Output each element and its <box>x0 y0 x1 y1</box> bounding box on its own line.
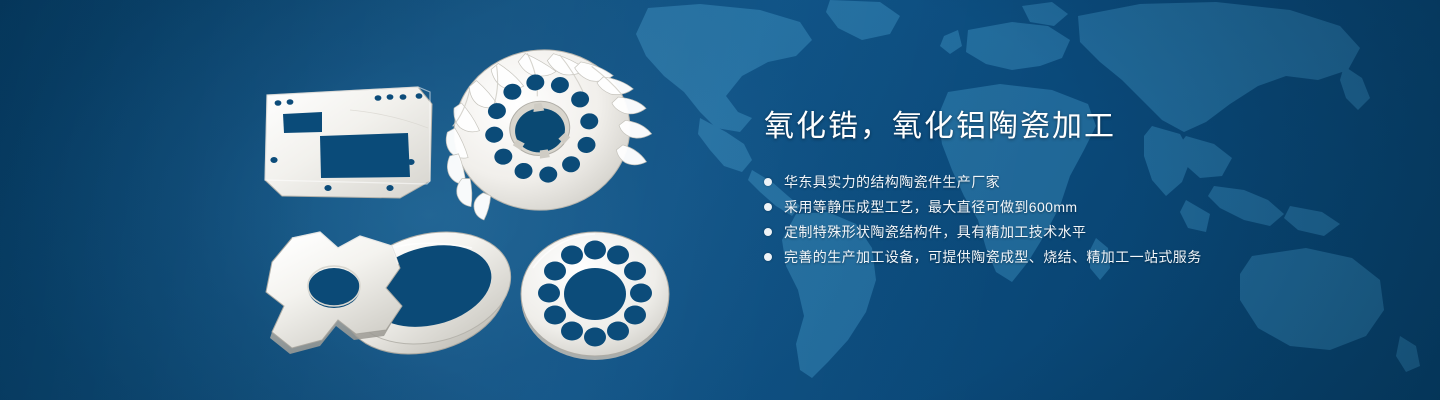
hero-banner: 氧化锆，氧化铝陶瓷加工 华东具实力的结构陶瓷件生产厂家 采用等静压成型工艺，最大… <box>0 0 1440 400</box>
list-item: 华东具实力的结构陶瓷件生产厂家 <box>764 170 1404 194</box>
list-item: 定制特殊形状陶瓷结构件，具有精加工技术水平 <box>764 220 1404 244</box>
bullet-dot-icon <box>764 228 772 236</box>
ceramic-impeller-shape <box>433 36 660 224</box>
ceramic-plate-shape <box>265 87 432 198</box>
feature-text: 完善的生产加工设备，可提供陶瓷成型、烧结、精加工一站式服务 <box>784 245 1202 269</box>
bullet-dot-icon <box>764 203 772 211</box>
list-item: 采用等静压成型工艺，最大直径可做到600mm <box>764 195 1404 219</box>
feature-text: 华东具实力的结构陶瓷件生产厂家 <box>784 170 1000 194</box>
page-title: 氧化锆，氧化铝陶瓷加工 <box>764 106 1404 148</box>
feature-text: 采用等静压成型工艺，最大直径可做到600mm <box>784 195 1077 219</box>
feature-list: 华东具实力的结构陶瓷件生产厂家 采用等静压成型工艺，最大直径可做到600mm 定… <box>764 170 1404 269</box>
list-item: 完善的生产加工设备，可提供陶瓷成型、烧结、精加工一站式服务 <box>764 245 1404 269</box>
product-images <box>0 0 760 400</box>
bullet-dot-icon <box>764 253 772 261</box>
bullet-dot-icon <box>764 178 772 186</box>
ceramic-perforated-disc-shape <box>521 232 669 360</box>
banner-copy: 氧化锆，氧化铝陶瓷加工 华东具实力的结构陶瓷件生产厂家 采用等静压成型工艺，最大… <box>764 106 1404 270</box>
feature-text: 定制特殊形状陶瓷结构件，具有精加工技术水平 <box>784 220 1086 244</box>
ceramic-cross-plate-shape <box>266 232 402 354</box>
